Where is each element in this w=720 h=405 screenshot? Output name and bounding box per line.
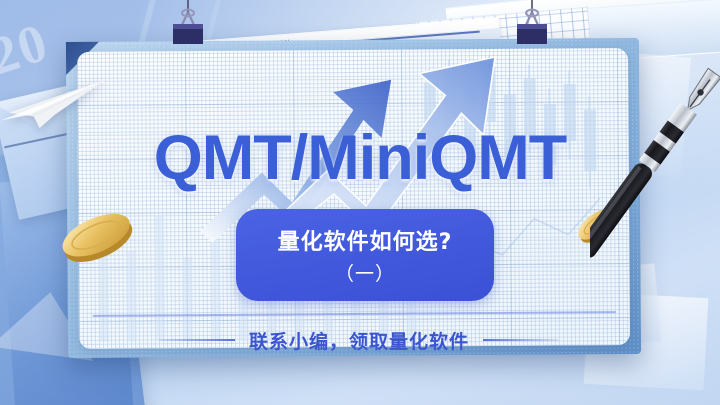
poster-canvas: 20 1/01 0110 1011 0100 0101 1010 1/01 01… <box>0 0 720 405</box>
subtitle-line-1: 量化软件如何选? <box>278 224 453 256</box>
footer-divider-right <box>483 339 559 341</box>
binder-clip-icon-left <box>168 0 208 44</box>
subtitle-line-2: （一） <box>335 259 395 286</box>
gold-coin-icon-left <box>58 202 136 272</box>
footer-divider-left <box>159 339 235 341</box>
footer-cta: 联系小编，领取量化软件 <box>78 328 640 352</box>
page-title: QMT/MiniQMT <box>0 127 720 190</box>
binder-clip-icon-right <box>512 0 552 44</box>
poster-inner-panel <box>77 48 630 349</box>
footer-text: 联系小编，领取量化软件 <box>249 327 469 354</box>
paper-plane-icon <box>0 78 108 130</box>
subtitle-badge: 量化软件如何选? （一） <box>236 209 494 301</box>
